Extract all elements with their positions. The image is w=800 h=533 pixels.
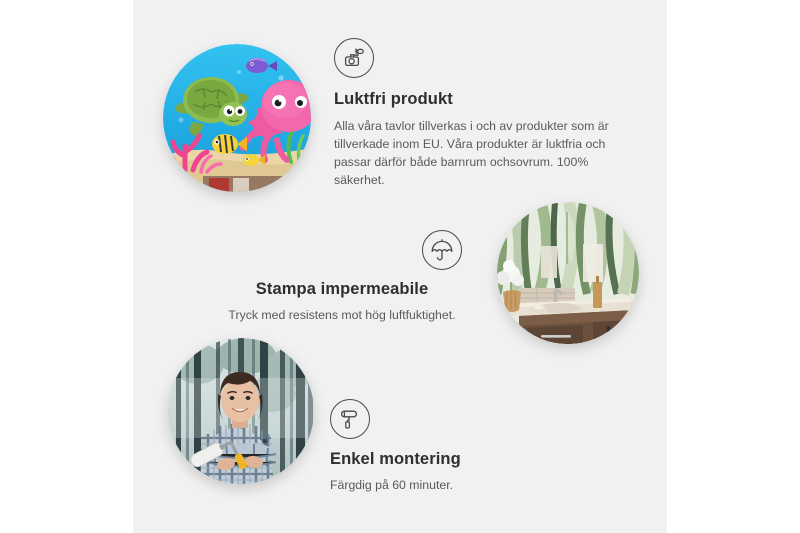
photo-woman-with-paint-roller-forest — [168, 338, 314, 484]
paint-roller-icon — [330, 399, 370, 439]
infographic-page: Luktfri produkt Alla våra tavlor tillver… — [0, 0, 800, 533]
no-fragrance-icon — [334, 38, 374, 78]
feature-title: Luktfri produkt — [334, 90, 634, 110]
photo-bathroom-tropical-wallpaper — [497, 202, 639, 344]
feature-title: Stampa impermeabile — [216, 280, 468, 300]
feature-description: Alla våra tavlor tillverkas i och av pro… — [334, 117, 626, 190]
feature-description: Tryck med resistens mot hög luftfuktighe… — [216, 306, 468, 324]
feature-title: Enkel montering — [330, 450, 590, 470]
feature-enkel-montering: Enkel montering Färgdig på 60 minuter. — [330, 399, 590, 494]
feature-stampa-impermeabile: Stampa impermeabile Tryck med resistens … — [216, 230, 468, 324]
feature-description: Färgdig på 60 minuter. — [330, 476, 590, 494]
icon-container — [216, 230, 468, 280]
umbrella-icon — [422, 230, 462, 270]
feature-luktfri-produkt: Luktfri produkt Alla våra tavlor tillver… — [334, 38, 634, 190]
photo-underwater-scene — [163, 44, 311, 192]
